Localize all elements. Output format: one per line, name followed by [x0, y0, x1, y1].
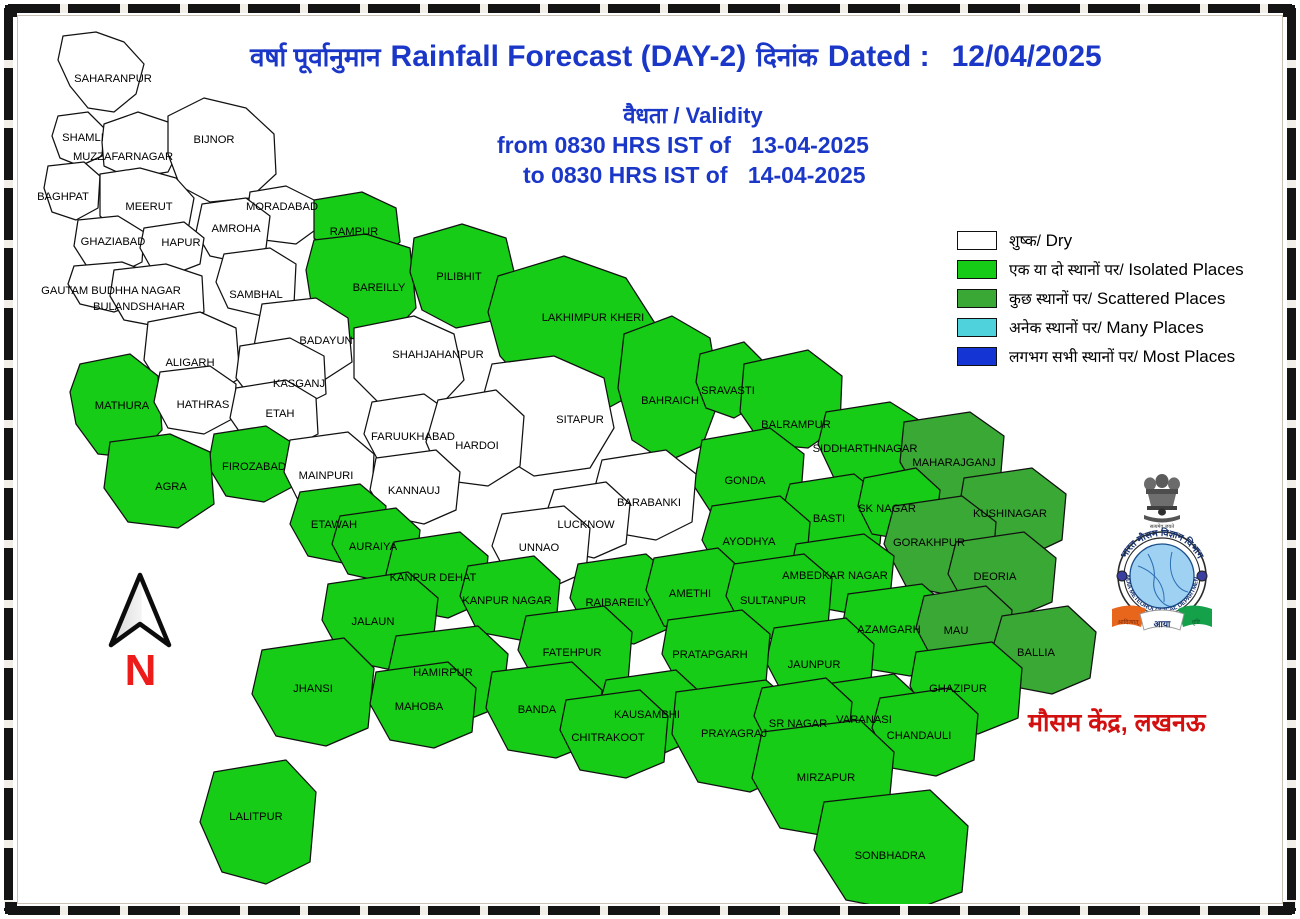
rainfall-legend: शुष्क/ Dryएक या दो स्थानों पर/ Isolated … [957, 228, 1244, 373]
district-label-lalitpur: LALITPUR [229, 811, 282, 823]
district-label-hardoi: HARDOI [455, 440, 499, 452]
district-label-chitrakoot: CHITRAKOOT [571, 732, 645, 744]
district-label-bahraich: BAHRAICH [641, 395, 699, 407]
frame-border-top [8, 4, 1292, 13]
legend-label-most: लगभग सभी स्थानों पर/ Most Places [1009, 345, 1235, 367]
validity-from-date: 13-04-2025 [751, 132, 869, 158]
district-label-mau: MAU [944, 625, 969, 637]
district-label-sambhal: SAMBHAL [229, 289, 282, 301]
legend-swatch-many [957, 318, 997, 337]
legend-label-scattered: कुछ स्थानों पर/ Scattered Places [1009, 287, 1225, 309]
district-label-fatehpur: FATEHPUR [543, 647, 602, 659]
map-title-row: वर्षा पूर्वानुमान Rainfall Forecast (DAY… [250, 38, 1102, 74]
district-label-bareilly: BAREILLY [353, 282, 406, 294]
validity-to-date: 14-04-2025 [748, 162, 866, 188]
district-label-mahoba: MAHOBA [395, 701, 444, 713]
district-label-ghaziabad: GHAZIABAD [81, 236, 146, 248]
district-label-shamli: SHAMLI [62, 132, 104, 144]
legend-item-most[interactable]: लगभग सभी स्थानों पर/ Most Places [957, 344, 1244, 368]
rainfall-forecast-map-page: SAHARANPURSHAMLIMUZZAFARNAGARBIJNORBAGHP… [0, 0, 1300, 919]
legend-item-dry[interactable]: शुष्क/ Dry [957, 228, 1244, 252]
district-label-raibareily: RAIBAREILY [585, 597, 651, 609]
title-english: Rainfall Forecast (DAY-2) [391, 40, 747, 74]
district-label-aligarh: ALIGARH [165, 357, 214, 369]
legend-swatch-dry [957, 231, 997, 250]
district-label-chandauli: CHANDAULI [887, 730, 952, 742]
district-label-amroha: AMROHA [211, 223, 261, 235]
district-label-unnao: UNNAO [519, 542, 560, 554]
district-label-bijnor: BIJNOR [193, 134, 234, 146]
svg-text:आदित्यात्: आदित्यात् [1117, 618, 1139, 626]
district-label-lucknow: LUCKNOW [557, 519, 615, 531]
district-label-etawah: ETAWAH [311, 519, 357, 531]
district-label-sk-nagar: SK NAGAR [858, 503, 916, 515]
resize-handle-top-left[interactable] [5, 5, 17, 17]
resize-handle-bottom-right[interactable] [1283, 902, 1295, 914]
district-label-gonda: GONDA [724, 475, 766, 487]
district-label-ambedkar-nagar: AMBEDKAR NAGAR [782, 570, 888, 582]
district-label-auraiya: AURAIYA [349, 541, 398, 553]
district-label-mainpuri: MAINPURI [299, 470, 354, 482]
district-label-muzzafarnagar: MUZZAFARNAGAR [73, 151, 173, 163]
legend-label-hindi-scattered: कुछ स्थानों पर/ [1009, 291, 1092, 308]
district-label-kanpur-dehat: KANPUR DEHAT [390, 572, 477, 584]
north-arrow-icon [105, 572, 175, 650]
district-label-balrampur: BALRAMPUR [761, 419, 831, 431]
district-label-jalaun: JALAUN [352, 616, 395, 628]
legend-label-isolated: एक या दो स्थानों पर/ Isolated Places [1009, 258, 1244, 280]
district-label-sultanpur: SULTANPUR [740, 595, 806, 607]
legend-label-many: अनेक स्थानों पर/ Many Places [1009, 316, 1204, 338]
legend-item-many[interactable]: अनेक स्थानों पर/ Many Places [957, 315, 1244, 339]
district-label-firozabad: FIROZABAD [222, 461, 286, 473]
district-label-hapur: HAPUR [161, 237, 200, 249]
district-label-bulandshahar: BULANDSHAHAR [93, 301, 185, 313]
district-label-siddharthnagar: SIDDHARTHNAGAR [813, 443, 918, 455]
legend-label-hindi-dry: शुष्क/ [1009, 233, 1041, 250]
district-label-rampur: RAMPUR [330, 226, 378, 238]
validity-block: वैधता / Validity from 0830 HRS IST of 13… [497, 100, 869, 191]
dated-english: Dated : [828, 40, 930, 74]
district-label-saharanpur: SAHARANPUR [74, 73, 152, 85]
legend-label-english-many: Many Places [1102, 318, 1204, 337]
district-label-meerut: MEERUT [125, 201, 172, 213]
legend-label-english-dry: Dry [1041, 231, 1072, 250]
legend-label-english-most: Most Places [1138, 347, 1235, 366]
district-label-kushinagar: KUSHINAGAR [973, 508, 1047, 520]
ashoka-emblem-icon: सत्यमेव जयते [1144, 474, 1180, 530]
district-label-basti: BASTI [813, 513, 845, 525]
district-label-prayagraj: PRAYAGRAJ [701, 728, 767, 740]
district-label-banda: BANDA [518, 704, 557, 716]
svg-text:आया: आया [1154, 619, 1171, 629]
resize-handle-bottom-left[interactable] [5, 902, 17, 914]
district-sonbhadra[interactable] [814, 790, 968, 904]
district-label-sr-nagar: SR NAGAR [769, 718, 827, 730]
title-hindi: वर्षा पूर्वानुमान [250, 38, 381, 74]
district-label-faruukhabad: FARUUKHABAD [371, 431, 455, 443]
district-label-jhansi: JHANSI [293, 683, 333, 695]
legend-item-scattered[interactable]: कुछ स्थानों पर/ Scattered Places [957, 286, 1244, 310]
north-arrow: N [95, 572, 185, 693]
district-label-shahjahanpur: SHAHJAHANPUR [392, 349, 483, 361]
legend-swatch-isolated [957, 260, 997, 279]
district-label-ayodhya: AYODHYA [722, 536, 776, 548]
frame-border-bottom [8, 906, 1292, 915]
svg-text:वृष्टि: वृष्टि [1192, 618, 1201, 626]
district-label-maharajganj: MAHARAJGANJ [912, 457, 995, 469]
legend-label-english-isolated: Isolated Places [1124, 260, 1244, 279]
district-label-lakhimpur-kheri: LAKHIMPUR KHERI [542, 312, 645, 324]
resize-handle-top-right[interactable] [1283, 5, 1295, 17]
district-label-mirzapur: MIRZAPUR [797, 772, 855, 784]
district-label-sitapur: SITAPUR [556, 414, 604, 426]
legend-swatch-most [957, 347, 997, 366]
district-label-kanpur-nagar: KANPUR NAGAR [462, 595, 552, 607]
district-label-moradabad: MORADABAD [246, 201, 318, 213]
legend-label-hindi-isolated: एक या दो स्थानों पर/ [1009, 262, 1124, 279]
validity-heading-english: Validity [686, 103, 763, 128]
district-label-mathura: MATHURA [95, 400, 150, 412]
north-arrow-label: N [95, 649, 185, 693]
district-label-agra: AGRA [155, 481, 187, 493]
district-label-azamgarh: AZAMGARH [857, 624, 920, 636]
district-label-hathras: HATHRAS [177, 399, 230, 411]
district-label-hamirpur: HAMIRPUR [413, 667, 473, 679]
issue-date-value: 12/04/2025 [952, 40, 1102, 74]
frame-border-left [4, 8, 13, 911]
district-label-baghpat: BAGHPAT [37, 191, 89, 203]
district-label-kausambhi: KAUSAMBHI [614, 709, 680, 721]
legend-label-hindi-many: अनेक स्थानों पर/ [1009, 320, 1102, 337]
legend-swatch-scattered [957, 289, 997, 308]
validity-heading: वैधता / Validity [497, 100, 869, 130]
district-label-ballia: BALLIA [1017, 647, 1055, 659]
district-label-barabanki: BARABANKI [617, 497, 681, 509]
district-label-jaunpur: JAUNPUR [788, 659, 841, 671]
district-label-badayun: BADAYUN [299, 335, 352, 347]
validity-heading-separator: / [673, 103, 679, 128]
frame-border-right [1287, 8, 1296, 911]
imd-logo: सत्यमेव जयते भारत मौसम विज्ञान विभाग IND… [1088, 468, 1236, 648]
validity-to-line: to 0830 HRS IST of 14-04-2025 [497, 160, 869, 190]
validity-from-label: from 0830 HRS IST of [497, 132, 731, 158]
validity-heading-hindi: वैधता [623, 103, 667, 128]
district-label-amethi: AMETHI [669, 588, 711, 600]
district-label-sravasti: SRAVASTI [701, 385, 755, 397]
district-label-kasganj: KASGANJ [273, 378, 325, 390]
legend-label-dry: शुष्क/ Dry [1009, 229, 1072, 251]
issuing-center-label: मौसम केंद्र, लखनऊ [1028, 705, 1206, 739]
legend-item-isolated[interactable]: एक या दो स्थानों पर/ Isolated Places [957, 257, 1244, 281]
district-label-ghazipur: GHAZIPUR [929, 683, 987, 695]
district-label-gautam-budhha-nagar: GAUTAM BUDHHA NAGAR [41, 285, 181, 297]
district-label-pilibhit: PILIBHIT [436, 271, 482, 283]
legend-label-hindi-most: लगभग सभी स्थानों पर/ [1009, 349, 1138, 366]
district-label-sonbhadra: SONBHADRA [855, 850, 926, 862]
dated-hindi: दिनांक [756, 38, 818, 74]
district-label-deoria: DEORIA [974, 571, 1017, 583]
district-label-varanasi: VARANASI [836, 714, 892, 726]
legend-label-english-scattered: Scattered Places [1092, 289, 1225, 308]
validity-from-line: from 0830 HRS IST of 13-04-2025 [497, 130, 869, 160]
district-label-gorakhpur: GORAKHPUR [893, 537, 965, 549]
district-label-etah: ETAH [265, 408, 294, 420]
district-label-kannauj: KANNAUJ [388, 485, 440, 497]
district-label-pratapgarh: PRATAPGARH [672, 649, 747, 661]
validity-to-label: to 0830 HRS IST of [523, 162, 727, 188]
